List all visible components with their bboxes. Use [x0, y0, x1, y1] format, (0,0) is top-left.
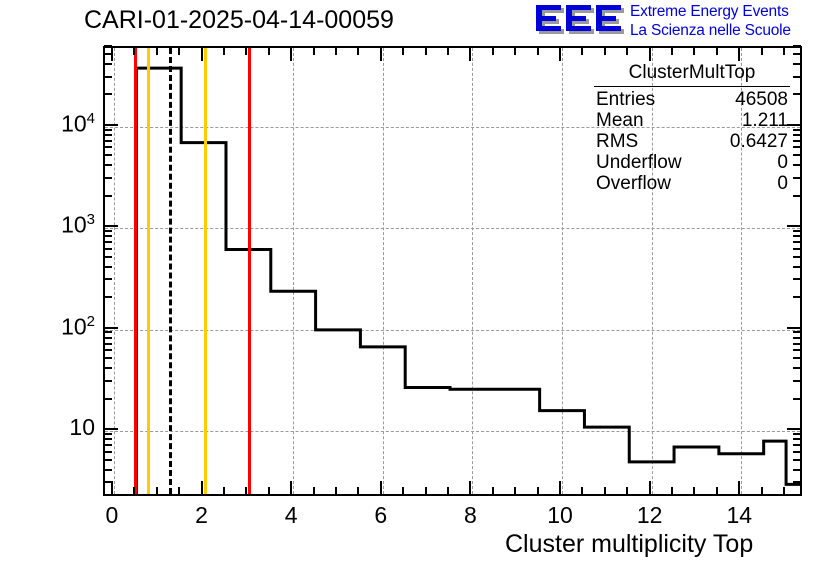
y-tick-label: 102: [25, 313, 95, 341]
y-tick-minor: [104, 53, 112, 55]
stats-row-value: 0: [777, 173, 788, 194]
y-tick-minor: [104, 256, 112, 258]
y-tick-minor: [104, 367, 112, 369]
stats-row: Underflow0: [588, 152, 796, 173]
y-tick-minor: [104, 93, 112, 95]
y-tick-minor: [104, 241, 112, 243]
y-tick-minor: [104, 349, 112, 351]
x-tick-major: [380, 481, 382, 495]
x-tick-minor-top: [245, 47, 247, 55]
eee-logo: Extreme Energy Events La Scienza nelle S…: [534, 2, 834, 42]
eee-logo-line2: La Scienza nelle Scuole: [630, 21, 835, 40]
x-tick-major: [290, 481, 292, 495]
mean-line: [169, 48, 172, 494]
x-tick-major: [738, 481, 740, 495]
y-tick-minor: [104, 248, 112, 250]
y-tick-minor-right: [793, 278, 801, 280]
y-tick-minor: [104, 76, 112, 78]
x-tick-major-top: [738, 47, 740, 61]
x-tick-minor: [245, 487, 247, 495]
x-tick-minor: [447, 487, 449, 495]
x-tick-label: 4: [261, 502, 321, 529]
stats-row-value: 46508: [735, 89, 788, 110]
stats-row: Entries46508: [588, 89, 796, 110]
x-tick-minor-top: [693, 47, 695, 55]
x-tick-minor: [402, 487, 404, 495]
y-tick-minor-right: [793, 195, 801, 197]
x-tick-minor-top: [581, 47, 583, 55]
y-tick-minor: [104, 164, 112, 166]
x-tick-minor: [671, 487, 673, 495]
x-tick-major-top: [559, 47, 561, 61]
x-tick-minor-top: [716, 47, 718, 55]
y-tick-minor-right: [793, 444, 801, 446]
x-tick-major-top: [380, 47, 382, 61]
y-tick-minor-right: [793, 367, 801, 369]
eee-logo-text: Extreme Energy Events La Scienza nelle S…: [630, 2, 835, 42]
left-red-threshold: [134, 48, 137, 494]
x-tick-minor: [604, 487, 606, 495]
y-tick-major: [104, 327, 118, 329]
y-tick-minor-right: [793, 469, 801, 471]
y-tick-minor-right: [793, 256, 801, 258]
x-tick-major-top: [469, 47, 471, 61]
x-tick-minor-top: [223, 47, 225, 55]
stats-title: ClusterMultTop: [594, 62, 790, 87]
x-tick-minor: [761, 487, 763, 495]
x-tick-minor: [537, 487, 539, 495]
stats-row: RMS0.6427: [588, 131, 796, 152]
y-tick-minor-right: [793, 241, 801, 243]
y-tick-minor: [104, 380, 112, 382]
x-tick-minor: [783, 487, 785, 495]
right-red-threshold: [248, 48, 251, 494]
root-canvas: CARI-01-2025-04-14-00059: [0, 0, 836, 572]
x-tick-minor: [313, 487, 315, 495]
y-tick-label: 104: [25, 110, 95, 138]
stats-row-value: 0.6427: [730, 131, 788, 152]
y-tick-minor: [104, 451, 112, 453]
x-tick-minor-top: [178, 47, 180, 55]
x-tick-major-top: [649, 47, 651, 61]
x-tick-minor: [133, 487, 135, 495]
x-tick-minor-top: [492, 47, 494, 55]
y-tick-major-right: [787, 428, 801, 430]
x-tick-major: [559, 481, 561, 495]
x-tick-minor-top: [447, 47, 449, 55]
stats-row: Overflow0: [588, 173, 796, 194]
x-tick-minor: [626, 487, 628, 495]
stats-row-key: RMS: [596, 131, 638, 152]
y-tick-minor: [104, 459, 112, 461]
y-tick-minor: [104, 45, 112, 47]
right-orange-threshold: [204, 48, 207, 494]
x-tick-minor-top: [425, 47, 427, 55]
y-tick-minor: [104, 154, 112, 156]
y-tick-minor: [104, 63, 112, 65]
x-axis-title: Cluster multiplicity Top: [505, 530, 753, 559]
x-tick-minor-top: [537, 47, 539, 55]
y-tick-minor: [104, 331, 112, 333]
y-tick-major: [104, 428, 118, 430]
y-tick-minor: [104, 398, 112, 400]
x-tick-minor: [156, 487, 158, 495]
y-tick-minor: [104, 337, 112, 339]
x-tick-label: 2: [172, 502, 232, 529]
x-tick-minor-top: [357, 47, 359, 55]
y-tick-minor-right: [793, 45, 801, 47]
x-tick-minor-top: [783, 47, 785, 55]
stats-row-key: Overflow: [596, 173, 671, 194]
y-tick-major-right: [787, 225, 801, 227]
x-tick-label: 12: [620, 502, 680, 529]
stats-row: Mean1.211: [588, 110, 796, 131]
y-tick-minor: [104, 438, 112, 440]
y-tick-minor-right: [793, 337, 801, 339]
x-tick-minor: [693, 487, 695, 495]
y-tick-minor-right: [793, 53, 801, 55]
x-tick-minor: [178, 487, 180, 495]
x-tick-minor-top: [313, 47, 315, 55]
x-tick-minor: [581, 487, 583, 495]
y-tick-minor: [104, 230, 112, 232]
y-tick-minor: [104, 146, 112, 148]
y-tick-minor-right: [793, 230, 801, 232]
x-tick-minor-top: [761, 47, 763, 55]
y-tick-minor: [104, 433, 112, 435]
y-tick-major: [104, 124, 118, 126]
y-tick-minor-right: [793, 248, 801, 250]
stats-row-key: Mean: [596, 110, 644, 131]
x-tick-minor: [492, 487, 494, 495]
y-tick-minor: [104, 444, 112, 446]
x-tick-minor: [357, 487, 359, 495]
y-tick-minor-right: [793, 438, 801, 440]
y-tick-minor: [104, 266, 112, 268]
y-tick-label: 103: [25, 211, 95, 239]
y-tick-minor-right: [793, 481, 801, 483]
x-tick-minor-top: [133, 47, 135, 55]
x-tick-minor: [716, 487, 718, 495]
y-tick-minor-right: [793, 380, 801, 382]
y-tick-minor-right: [793, 451, 801, 453]
y-tick-minor-right: [793, 331, 801, 333]
x-tick-minor-top: [604, 47, 606, 55]
x-tick-label: 10: [530, 502, 590, 529]
x-tick-minor: [268, 487, 270, 495]
y-tick-minor-right: [793, 433, 801, 435]
y-tick-minor: [104, 129, 112, 131]
x-tick-minor-top: [671, 47, 673, 55]
y-tick-minor-right: [793, 343, 801, 345]
y-tick-minor: [104, 469, 112, 471]
y-tick-minor: [104, 357, 112, 359]
y-tick-minor: [104, 235, 112, 237]
stats-row-value: 1.211: [742, 110, 788, 131]
y-tick-minor: [104, 296, 112, 298]
y-tick-minor-right: [793, 235, 801, 237]
y-tick-minor: [104, 140, 112, 142]
x-tick-minor-top: [156, 47, 158, 55]
x-tick-major-top: [201, 47, 203, 61]
stats-row-key: Entries: [596, 89, 655, 110]
y-tick-minor-right: [793, 398, 801, 400]
x-tick-minor: [425, 487, 427, 495]
x-tick-minor-top: [514, 47, 516, 55]
x-tick-major: [469, 481, 471, 495]
x-tick-minor-top: [626, 47, 628, 55]
y-tick-minor: [104, 195, 112, 197]
x-tick-minor: [223, 487, 225, 495]
left-orange-threshold: [147, 48, 150, 494]
page-title: CARI-01-2025-04-14-00059: [84, 6, 394, 35]
y-tick-label: 10: [25, 414, 95, 441]
y-tick-minor: [104, 481, 112, 483]
stats-row-key: Underflow: [596, 152, 682, 173]
x-tick-minor-top: [335, 47, 337, 55]
y-tick-minor: [104, 177, 112, 179]
y-tick-major-right: [787, 327, 801, 329]
y-tick-major: [104, 225, 118, 227]
y-tick-minor-right: [793, 266, 801, 268]
stats-rows: Entries46508Mean1.211RMS0.6427Underflow0…: [588, 89, 796, 194]
y-tick-minor-right: [793, 296, 801, 298]
x-tick-minor: [335, 487, 337, 495]
x-tick-major-top: [290, 47, 292, 61]
x-tick-label: 8: [440, 502, 500, 529]
eee-logo-mark: [534, 4, 626, 38]
y-tick-minor: [104, 278, 112, 280]
x-tick-label: 14: [709, 502, 769, 529]
x-tick-minor: [514, 487, 516, 495]
y-tick-minor-right: [793, 357, 801, 359]
x-tick-label: 0: [82, 502, 142, 529]
x-tick-label: 6: [351, 502, 411, 529]
y-tick-minor: [104, 134, 112, 136]
stats-row-value: 0: [777, 152, 788, 173]
stats-box: ClusterMultTop Entries46508Mean1.211RMS0…: [588, 62, 796, 194]
y-tick-minor-right: [793, 349, 801, 351]
x-tick-minor-top: [268, 47, 270, 55]
x-tick-minor-top: [402, 47, 404, 55]
x-tick-major: [201, 481, 203, 495]
x-tick-major: [649, 481, 651, 495]
eee-logo-line1: Extreme Energy Events: [630, 2, 835, 21]
y-tick-minor: [104, 343, 112, 345]
y-tick-minor-right: [793, 459, 801, 461]
